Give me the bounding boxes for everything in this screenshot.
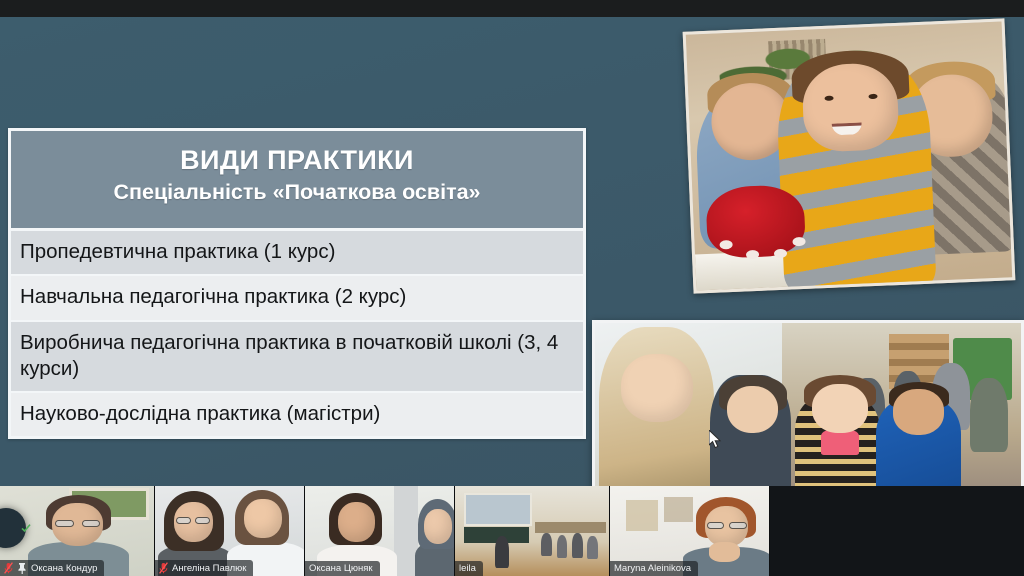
video-tile-participant-4[interactable]: leila (455, 486, 610, 576)
table-header: ВИДИ ПРАКТИКИ Спеціальність «Початкова о… (11, 131, 583, 231)
participant-name-badge: Оксана Кондур (0, 560, 104, 576)
participant-name: Maryna Aleinikova (614, 563, 691, 574)
photo-children-hug (683, 18, 1016, 293)
participant-name-badge: Оксана Цюняк (305, 561, 380, 576)
video-strip-overflow-area (770, 486, 1024, 576)
slide-title: ВИДИ ПРАКТИКИ (21, 145, 573, 175)
participant-name-badge: Maryna Aleinikova (610, 561, 698, 576)
mic-off-icon (4, 562, 13, 574)
meeting-screenshare-window: ВИДИ ПРАКТИКИ Спеціальність «Початкова о… (0, 0, 1024, 576)
photo-classroom-selfie (592, 320, 1024, 510)
mic-off-icon (159, 562, 168, 574)
participant-name: Оксана Кондур (31, 563, 97, 574)
window-top-bar (0, 0, 1024, 17)
table-row: Пропедевтична практика (1 курс) (11, 231, 583, 276)
checkmark-icon (21, 523, 31, 533)
video-tile-participant-3[interactable]: Оксана Цюняк (305, 486, 455, 576)
table-row: Навчальна педагогічна практика (2 курс) (11, 276, 583, 321)
participant-name: leila (459, 563, 476, 574)
participant-name-badge: leila (455, 561, 483, 576)
slide-subtitle: Спеціальність «Початкова освіта» (21, 180, 573, 206)
table-row: Виробнича педагогічна практика в початко… (11, 322, 583, 393)
pin-icon[interactable] (17, 562, 27, 574)
participant-name: Ангеліна Павлюк (172, 563, 246, 574)
practice-types-table: ВИДИ ПРАКТИКИ Спеціальність «Початкова о… (8, 128, 586, 439)
table-row: Науково-дослідна практика (магістри) (11, 393, 583, 436)
participant-video-strip[interactable]: Оксана Кондур Ангеліна Павлюк (0, 486, 1024, 576)
video-tile-participant-5[interactable]: Maryna Aleinikova (610, 486, 770, 576)
video-tile-participant-2[interactable]: Ангеліна Павлюк (155, 486, 305, 576)
participant-name-badge: Ангеліна Павлюк (155, 560, 253, 576)
participant-name: Оксана Цюняк (309, 563, 373, 574)
mouse-cursor-icon (709, 430, 722, 449)
